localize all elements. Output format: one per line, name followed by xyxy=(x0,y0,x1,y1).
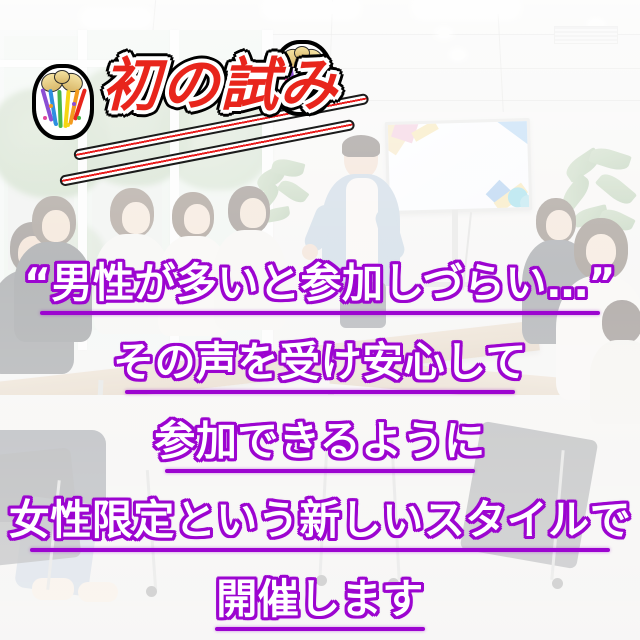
message-underline xyxy=(125,390,515,394)
message-underline xyxy=(30,548,610,552)
headline-text: 初の試み xyxy=(102,48,338,122)
message-line-text: “男性が多いと参加しづらい…” xyxy=(24,258,616,308)
message-underline xyxy=(165,469,475,473)
message-line-text: その声を受け安心して xyxy=(113,337,527,387)
message-line: 参加できるように xyxy=(0,416,640,473)
message-underline xyxy=(40,311,600,315)
kusudama-ornament xyxy=(32,64,94,140)
message-line-text: 女性限定という新しいスタイルで xyxy=(9,495,632,545)
message-underline xyxy=(215,627,425,631)
message-line: 女性限定という新しいスタイルで xyxy=(0,495,640,552)
poster-canvas: 初の試み “男性が多いと参加しづらい…” その声を受け安心して 参加できるように… xyxy=(0,0,640,640)
message-line-text: 参加できるように xyxy=(154,416,485,466)
message-block: “男性が多いと参加しづらい…” その声を受け安心して 参加できるように 女性限定… xyxy=(0,258,640,631)
headline-badge: 初の試み xyxy=(28,40,338,145)
message-line: 開催します xyxy=(0,574,640,631)
message-line: “男性が多いと参加しづらい…” xyxy=(0,258,640,315)
message-line-text: 開催します xyxy=(216,574,424,624)
message-line: その声を受け安心して xyxy=(0,337,640,394)
